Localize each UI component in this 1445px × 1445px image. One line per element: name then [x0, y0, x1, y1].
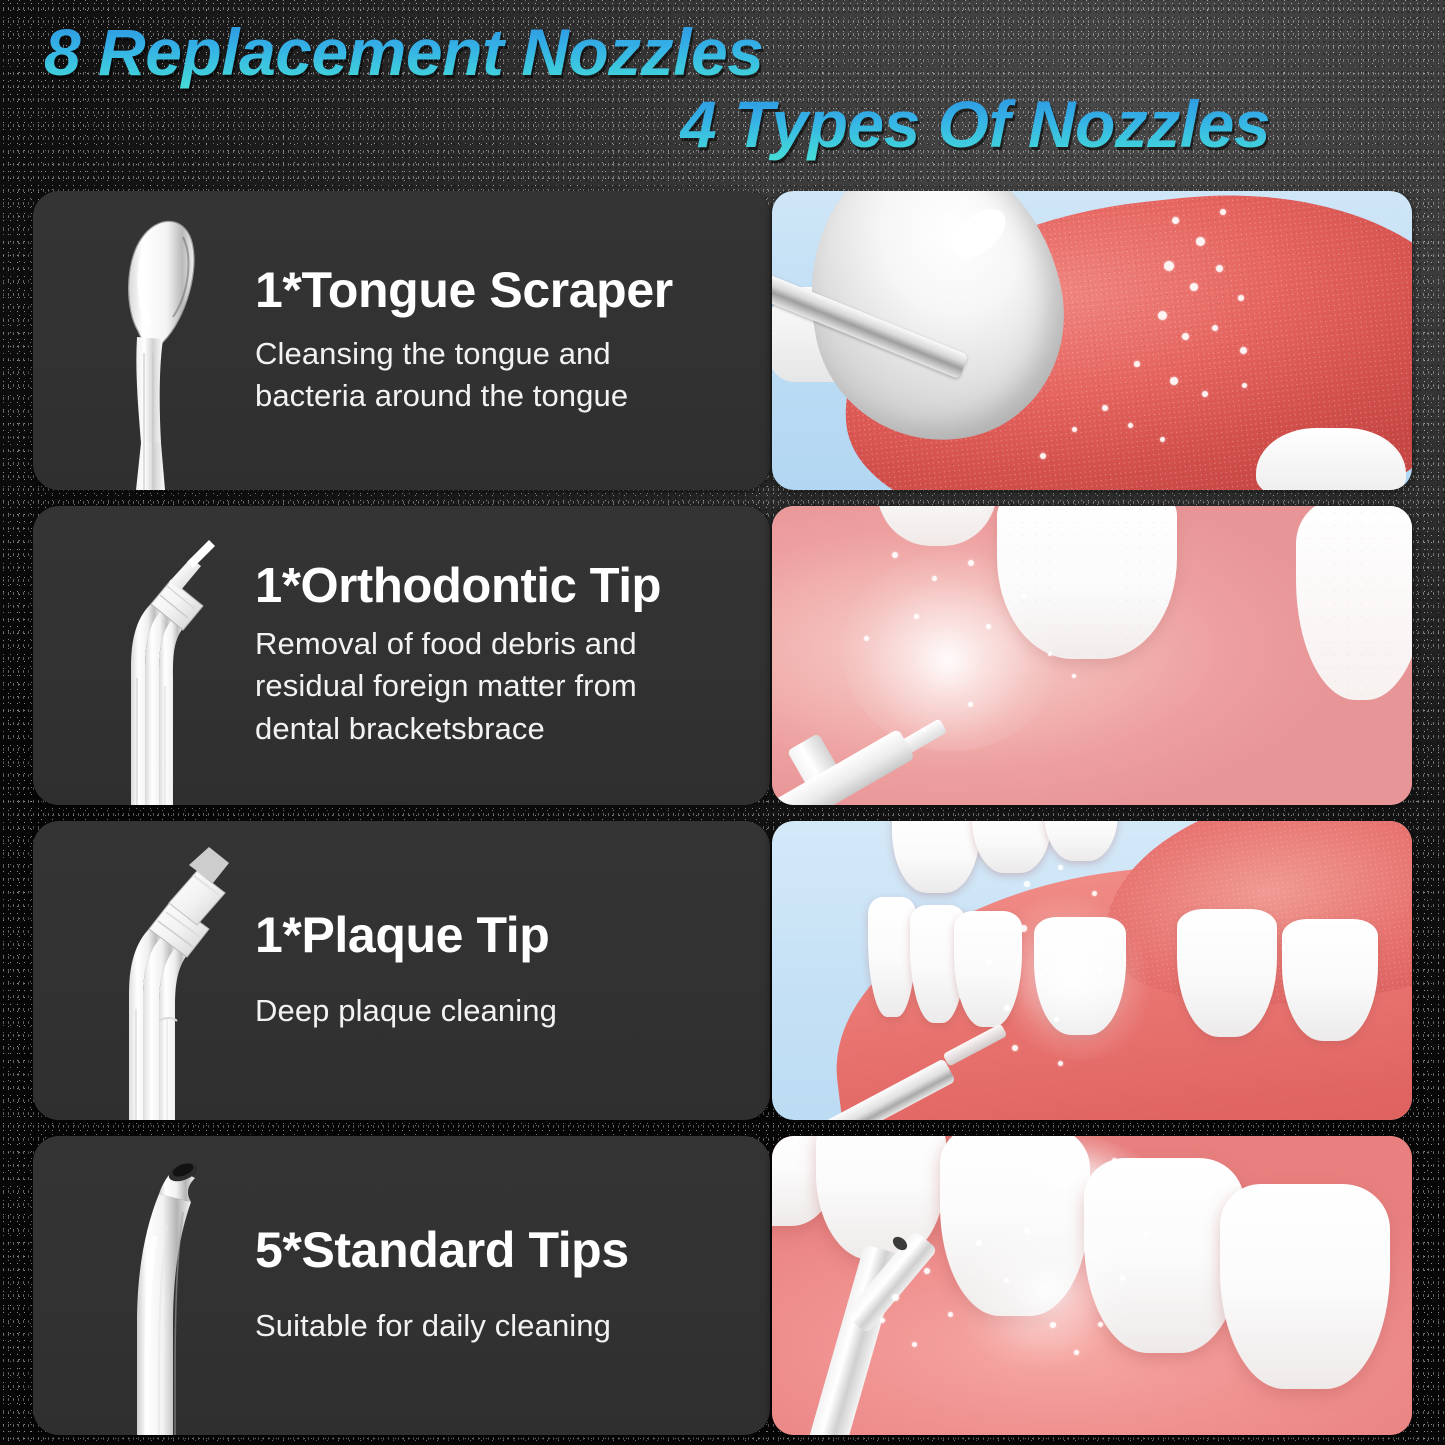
headline-secondary: 4 Types Of Nozzles: [680, 86, 1270, 162]
tooth-illustration: [868, 897, 916, 1017]
feature-title: 1*Orthodontic Tip: [255, 561, 756, 613]
photo-orthodontic-tip: [772, 506, 1412, 805]
feature-description: Suitable for daily cleaning: [255, 1305, 710, 1347]
feature-text-standard-tips: 5*Standard Tips Suitable for daily clean…: [255, 1136, 756, 1435]
tooth-illustration: [1282, 919, 1378, 1041]
feature-description: Deep plaque cleaning: [255, 990, 710, 1032]
feature-description: Cleansing the tongue and bacteria around…: [255, 333, 710, 418]
feature-row-tongue-scraper: 1*Tongue Scraper Cleansing the tongue an…: [0, 191, 1445, 491]
tooth-illustration: [1044, 821, 1118, 861]
water-spray: [842, 551, 1062, 751]
feature-card-orthodontic-tip: 1*Orthodontic Tip Removal of food debris…: [33, 506, 770, 805]
standard-tip-icon: [33, 1136, 253, 1435]
tooth-illustration: [972, 821, 1052, 873]
feature-row-plaque-tip: 1*Plaque Tip Deep plaque cleaning: [0, 821, 1445, 1121]
feature-text-plaque-tip: 1*Plaque Tip Deep plaque cleaning: [255, 821, 756, 1120]
feature-row-standard-tips: 5*Standard Tips Suitable for daily clean…: [0, 1136, 1445, 1436]
feature-text-orthodontic-tip: 1*Orthodontic Tip Removal of food debris…: [255, 506, 756, 805]
tooth-illustration: [1177, 909, 1277, 1037]
feature-description: Removal of food debris and residual fore…: [255, 623, 725, 750]
feature-title: 1*Tongue Scraper: [255, 264, 756, 317]
photo-plaque-tip: [772, 821, 1412, 1120]
header: 8 Replacement Nozzles 4 Types Of Nozzles: [0, 0, 1445, 175]
tooth-illustration: [1296, 506, 1412, 700]
feature-card-tongue-scraper: 1*Tongue Scraper Cleansing the tongue an…: [33, 191, 770, 490]
feature-card-plaque-tip: 1*Plaque Tip Deep plaque cleaning: [33, 821, 770, 1120]
feature-row-orthodontic-tip: 1*Orthodontic Tip Removal of food debris…: [0, 506, 1445, 806]
tooth-illustration: [892, 821, 980, 893]
feature-title: 1*Plaque Tip: [255, 909, 756, 962]
headline-primary: 8 Replacement Nozzles: [44, 14, 763, 90]
orthodontic-tip-icon: [33, 506, 253, 805]
photo-tongue-scraper: [772, 191, 1412, 490]
feature-title: 5*Standard Tips: [255, 1224, 756, 1277]
photo-standard-tips: [772, 1136, 1412, 1435]
tongue-scraper-icon: [33, 191, 253, 490]
molar-illustration: [1220, 1184, 1390, 1389]
feature-text-tongue-scraper: 1*Tongue Scraper Cleansing the tongue an…: [255, 191, 756, 490]
product-infographic: 8 Replacement Nozzles 4 Types Of Nozzles: [0, 0, 1445, 1445]
tooth-illustration: [1256, 428, 1406, 490]
feature-card-standard-tips: 5*Standard Tips Suitable for daily clean…: [33, 1136, 770, 1435]
plaque-tip-icon: [33, 821, 253, 1120]
